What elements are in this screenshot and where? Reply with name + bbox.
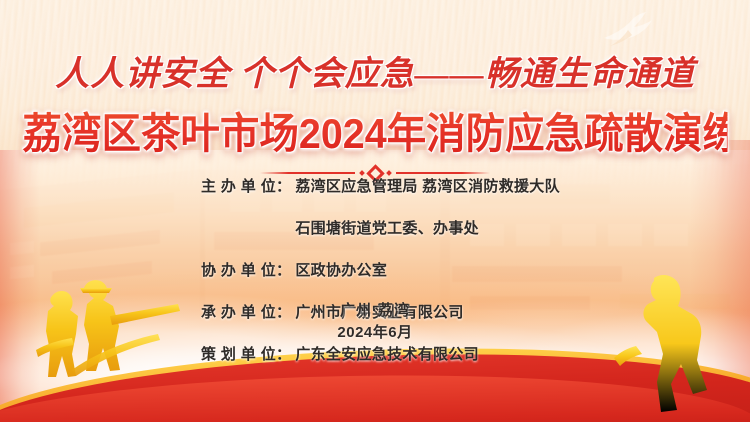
divider-dot-right [386,170,392,176]
organizer-label: 主办单位 [201,176,276,218]
organizer-row: 主办单位：荔湾区应急管理局 荔湾区消防救援大队 [201,176,549,218]
divider-line-left [260,172,355,174]
place-date-block: 广州·荔湾 2024年6月 [0,300,750,344]
poster-main-title: 荔湾区茶叶市场2024年消防应急疏散演练 [23,100,728,161]
divider-line-right [396,172,491,174]
organizer-value: 石围塘街道党工委、办事处 [295,218,549,239]
divider-dot-left [359,170,365,176]
organizer-value: 荔湾区应急管理局 荔湾区消防救援大队 [295,176,560,197]
organizer-label: 策划单位 [201,344,276,386]
date-text: 2024年6月 [0,322,750,344]
organizer-row: 主办单位：石围塘街道党工委、办事处 [201,218,549,260]
organizer-colon: ： [276,260,291,281]
organizer-block: 主办单位：荔湾区应急管理局 荔湾区消防救援大队主办单位：石围塘街道党工委、办事处… [0,176,750,386]
organizer-value: 广东全安应急技术有限公司 [295,344,549,365]
organizer-colon: ： [276,344,291,365]
organizer-label: 协办单位 [201,260,276,302]
organizer-row: 协办单位：区政协办公室 [201,260,549,302]
organizer-row: 策划单位：广东全安应急技术有限公司 [201,344,549,386]
organizer-colon: ： [276,176,291,197]
fire-drill-poster: 人人讲安全 个个会应急——畅通生命通道 荔湾区茶叶市场2024年消防应急疏散演练… [0,0,750,422]
poster-slogan: 人人讲安全 个个会应急——畅通生命通道 [0,46,750,95]
organizer-value: 区政协办公室 [295,260,549,281]
place-text: 广州·荔湾 [0,300,750,322]
